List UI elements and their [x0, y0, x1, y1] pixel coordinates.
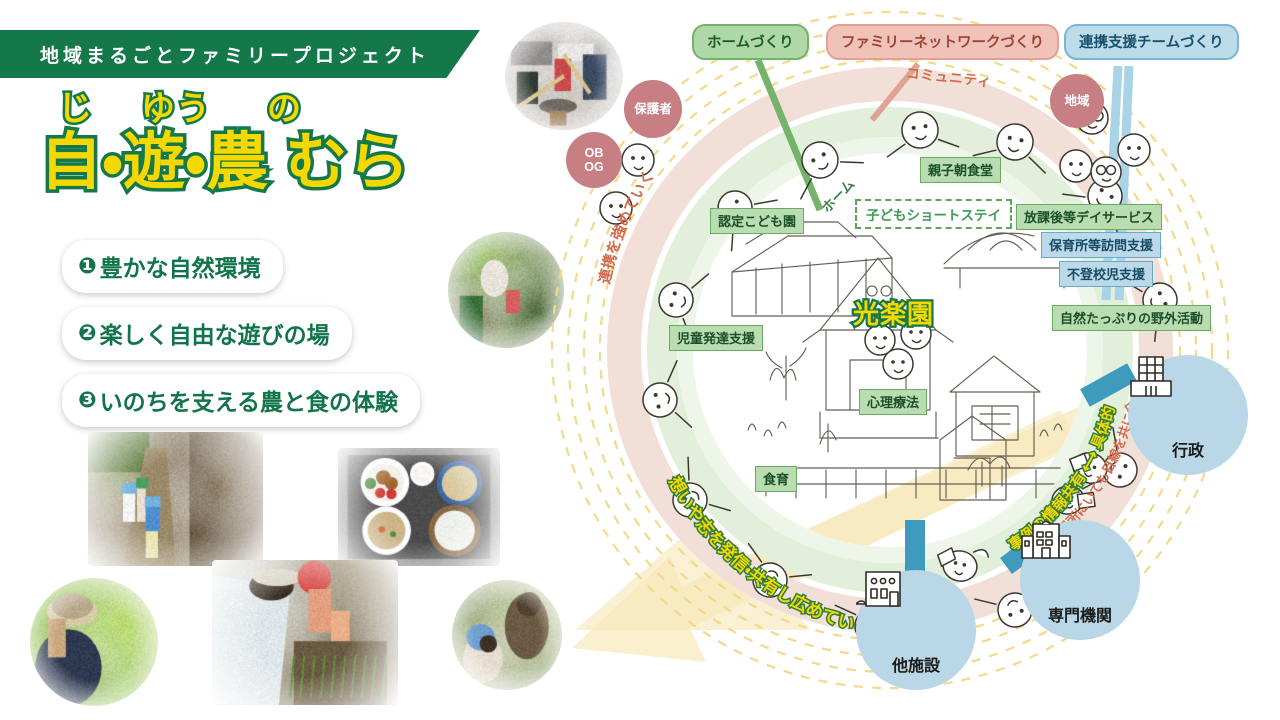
- tag-ninteikodomoen[interactable]: 認定こども園: [710, 208, 804, 234]
- callout-home-dukuri[interactable]: ホームづくり: [692, 24, 809, 60]
- rose-circle-ob-og: OBOG: [566, 132, 622, 188]
- rose-label: 地域: [1064, 94, 1089, 108]
- tag-shinri-ryouhou[interactable]: 心理療法: [859, 389, 927, 415]
- project-banner: 地域まるごとファミリープロジェクト: [0, 30, 480, 78]
- rose-label: 保護者: [634, 102, 672, 116]
- institution-building-icon: [1020, 520, 1072, 562]
- title-kana-0: じ: [58, 92, 93, 126]
- page-title: じ ゆう の 自・遊・農 むら: [40, 92, 510, 195]
- tag-label: 放課後等デイサービス: [1024, 210, 1154, 225]
- rose-circle-hogosha: 保護者: [624, 80, 682, 138]
- title-kana-1: ゆう: [141, 92, 211, 126]
- bullet-label: 豊かな自然環境: [100, 249, 261, 283]
- bullet-label: 楽しく自由な遊びの場: [100, 316, 330, 350]
- bullet-number: ❸: [78, 387, 97, 413]
- institution-label: 行政: [1172, 437, 1204, 461]
- center-logo: 光楽園: [853, 294, 934, 331]
- photo-rice-planting-kids: [212, 560, 398, 705]
- photo-trail-children: [88, 432, 263, 566]
- list-item: ❶ 豊かな自然環境: [62, 240, 283, 293]
- list-item: ❷ 楽しく自由な遊びの場: [62, 307, 352, 360]
- institution-label: 専門機関: [1048, 602, 1112, 626]
- tag-label: 認定こども園: [718, 214, 796, 229]
- rose-label: OBOG: [584, 146, 603, 175]
- callout-family-network-dukuri[interactable]: ファミリーネットワークづくり: [826, 24, 1059, 60]
- photo-rice-planting-adult: [30, 578, 158, 706]
- institution-label: 他施設: [892, 652, 940, 676]
- callout-label: ホームづくり: [707, 35, 794, 51]
- photo-school-lunch: [338, 448, 500, 566]
- callout-label: ファミリーネットワークづくり: [841, 35, 1044, 51]
- tag-hoikujo-houmon-shien[interactable]: 保育所等訪問支援: [1041, 232, 1161, 258]
- poster-root: 地域まるごとファミリープロジェクト じ ゆう の 自・遊・農 むら ❶ 豊かな自…: [0, 0, 1280, 720]
- tag-jidou-hattatsu-shien[interactable]: 児童発達支援: [669, 325, 763, 351]
- tag-shizen-yagai-katsudou[interactable]: 自然たっぷりの野外活動: [1052, 305, 1211, 331]
- institution-gyousei[interactable]: 行政: [1128, 355, 1248, 475]
- government-building-icon: [1128, 355, 1174, 399]
- facility-building-icon: [856, 570, 906, 610]
- list-item: ❸ いのちを支える農と食の体験: [62, 374, 420, 427]
- tag-label: 児童発達支援: [677, 331, 755, 346]
- institution-ta-shisetsu[interactable]: 他施設: [856, 570, 976, 690]
- tag-label: 心理療法: [867, 395, 919, 410]
- rose-circle-chiiki: 地域: [1050, 74, 1104, 128]
- institution-senmon-kikan[interactable]: 専門機関: [1020, 520, 1140, 640]
- feature-list: ❶ 豊かな自然環境 ❷ 楽しく自由な遊びの場 ❸ いのちを支える農と食の体験: [62, 240, 482, 441]
- bullet-label: いのちを支える農と食の体験: [100, 383, 398, 417]
- title-kana-2: の: [267, 92, 302, 126]
- callout-label: 連携支援チームづくり: [1079, 35, 1224, 51]
- tag-label: 子どもショートステイ: [866, 208, 1001, 223]
- tag-label: 保育所等訪問支援: [1049, 238, 1153, 253]
- banner-text: 地域まるごとファミリープロジェクト: [40, 41, 430, 68]
- tag-label: 食育: [763, 472, 789, 487]
- tag-houkago-day-service[interactable]: 放課後等デイサービス: [1016, 204, 1162, 230]
- tag-oyako-choushokudou[interactable]: 親子朝食堂: [920, 157, 1001, 183]
- bullet-number: ❷: [78, 320, 97, 346]
- tag-label: 親子朝食堂: [928, 163, 993, 178]
- tag-futoukouji-shien[interactable]: 不登校児支援: [1059, 261, 1153, 287]
- title-main: 自・遊・農 むら: [40, 130, 510, 195]
- callout-renkei-shien-team-dukuri[interactable]: 連携支援チームづくり: [1064, 24, 1239, 60]
- tag-shokuiku[interactable]: 食育: [755, 466, 797, 492]
- title-kana-row: じ ゆう の: [40, 92, 510, 126]
- ecosystem-diagram: 連携を強めていく 想いや志を発信・共有し広めていく どこの場所にいても目線を共に…: [520, 0, 1280, 720]
- tag-kodomo-short-stay[interactable]: 子どもショートステイ: [855, 199, 1012, 229]
- bullet-number: ❶: [78, 253, 97, 279]
- tag-label: 自然たっぷりの野外活動: [1060, 311, 1203, 326]
- tag-label: 不登校児支援: [1067, 267, 1145, 282]
